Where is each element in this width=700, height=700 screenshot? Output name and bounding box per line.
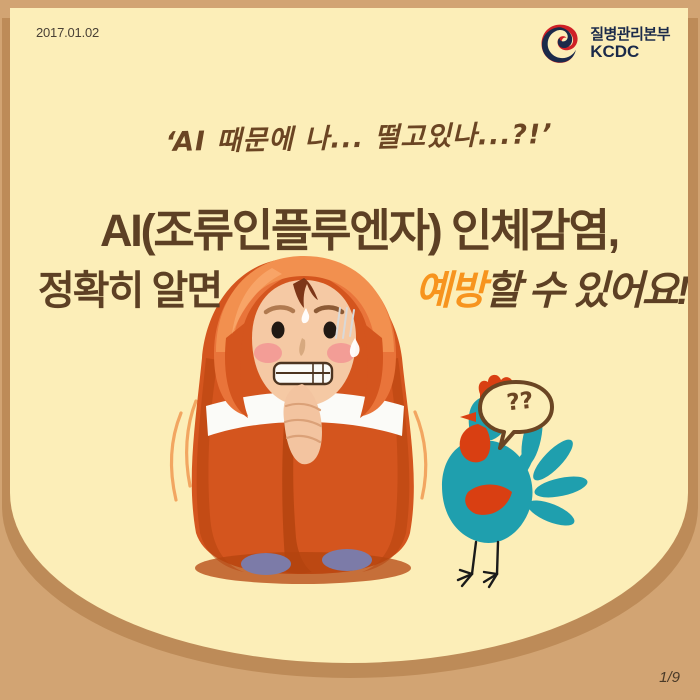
title-line-2-right: 예방할 수 있어요! — [415, 258, 688, 316]
infographic-card: ?? 2017.01.02 질병관리본부 KCDC ‘AI 때문에 나... 떨… — [0, 0, 700, 700]
taegeuk-swirl-icon — [538, 22, 582, 66]
kcdc-logo: 질병관리본부 KCDC — [538, 22, 670, 66]
title-line-2-left: 정확히 알면 — [38, 258, 221, 316]
content-panel: ?? 2017.01.02 질병관리본부 KCDC ‘AI 때문에 나... 떨… — [10, 8, 688, 663]
kcdc-logo-text: 질병관리본부 KCDC — [590, 27, 670, 61]
title-line-1: AI(조류인플루엔자) 인체감염, — [10, 194, 688, 259]
kcdc-english-name: KCDC — [590, 43, 670, 61]
title-line-2-tail: 할 수 있어요! — [484, 269, 688, 313]
page-indicator: 1/9 — [659, 669, 680, 686]
title-highlight-word: 예방 — [415, 269, 485, 313]
kcdc-korean-name: 질병관리본부 — [590, 27, 670, 43]
illustration-artwork — [10, 8, 688, 663]
publish-date: 2017.01.02 — [36, 25, 99, 40]
